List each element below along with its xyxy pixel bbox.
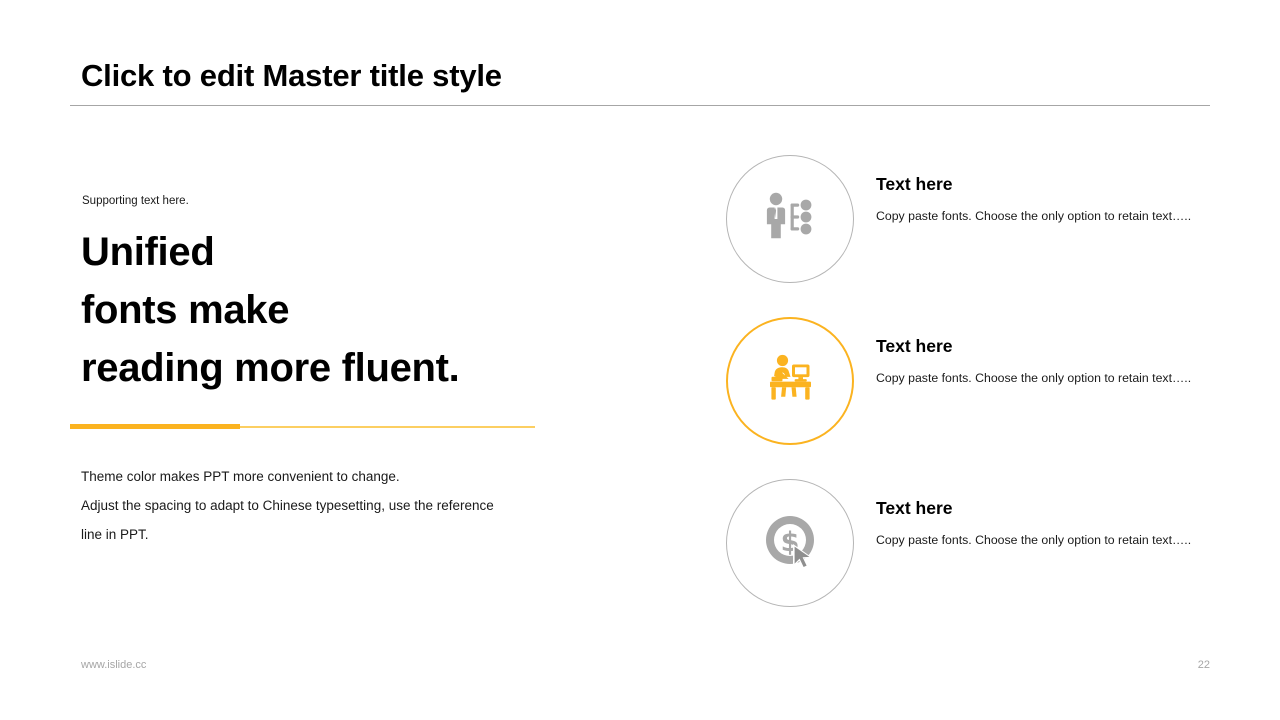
org-chart-person-icon [759,186,821,253]
icon-card-1[interactable]: Text here Copy paste fonts. Choose the o… [726,155,1216,285]
headline-line-1: Unified [81,223,641,281]
headline-block[interactable]: Unified fonts make reading more fluent. [81,223,641,397]
icon-card-1-title[interactable]: Text here [876,173,1206,195]
icon-circle-1[interactable] [726,155,854,283]
accent-divider [70,424,535,430]
page-number: 22 [1198,659,1210,671]
icon-card-list: Text here Copy paste fonts. Choose the o… [726,155,1216,609]
person-at-desk-computer-icon [760,349,820,414]
body-line-3: line in PPT. [81,520,591,549]
body-copy[interactable]: Theme color makes PPT more convenient to… [81,462,591,549]
title-underline-rule [70,105,1210,106]
divider-accent-segment [70,424,240,429]
icon-card-2-text: Text here Copy paste fonts. Choose the o… [876,335,1206,389]
icon-card-3-title[interactable]: Text here [876,497,1206,519]
supporting-text[interactable]: Supporting text here. [82,193,641,209]
icon-card-1-text: Text here Copy paste fonts. Choose the o… [876,173,1206,227]
body-line-2: Adjust the spacing to adapt to Chinese t… [81,491,591,520]
icon-card-3[interactable]: $ Text here Copy paste fonts. Choose the… [726,479,1216,609]
icon-card-2[interactable]: Text here Copy paste fonts. Choose the o… [726,317,1216,447]
icon-card-2-title[interactable]: Text here [876,335,1206,357]
icon-card-3-description[interactable]: Copy paste fonts. Choose the only option… [876,529,1206,551]
icon-circle-3[interactable]: $ [726,479,854,607]
title-block: Click to edit Master title style [70,56,1210,96]
page-title[interactable]: Click to edit Master title style [81,56,1210,96]
icon-card-1-description[interactable]: Copy paste fonts. Choose the only option… [876,205,1206,227]
headline-line-3: reading more fluent. [81,339,641,397]
left-text-column: Supporting text here. Unified fonts make… [81,193,641,397]
slide-canvas: Click to edit Master title style Support… [0,0,1280,720]
icon-circle-2[interactable] [726,317,854,445]
headline-line-2: fonts make [81,281,641,339]
icon-card-2-description[interactable]: Copy paste fonts. Choose the only option… [876,367,1206,389]
footer-url[interactable]: www.islide.cc [81,659,146,671]
icon-card-3-text: Text here Copy paste fonts. Choose the o… [876,497,1206,551]
dollar-coin-cursor-click-icon: $ [760,511,820,576]
body-line-1: Theme color makes PPT more convenient to… [81,462,591,491]
